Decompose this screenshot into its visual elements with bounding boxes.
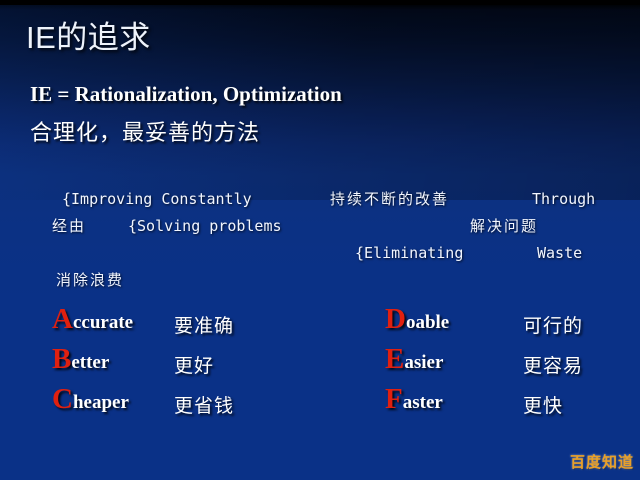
baidu-zhidao-watermark: 百度知道 bbox=[570, 451, 634, 472]
abc-initial-letter: D bbox=[385, 303, 406, 335]
body-line: {EliminatingWaste bbox=[0, 240, 640, 267]
abc-term-rest: etter bbox=[71, 352, 109, 373]
abc-term-rest: aster bbox=[403, 392, 443, 413]
body-text-segment: Waste bbox=[537, 240, 582, 267]
subtitle-english: IE = Rationalization, Optimization bbox=[30, 82, 342, 107]
body-line: 消除浪费 bbox=[0, 267, 640, 294]
body-text-segment: 经由 bbox=[52, 213, 86, 240]
abc-initial-letter: B bbox=[52, 343, 71, 375]
abc-initial-letter: A bbox=[52, 303, 73, 335]
abc-term-rest: ccurate bbox=[73, 312, 133, 333]
abc-term: Better bbox=[52, 350, 109, 374]
abc-term-rest: oable bbox=[406, 312, 449, 333]
abc-term-translation: 要准确 bbox=[174, 311, 234, 338]
abc-term-translation: 更好 bbox=[174, 351, 214, 378]
body-text-segment: {Solving problems bbox=[128, 213, 282, 240]
abc-term: Faster bbox=[385, 390, 443, 414]
abc-term-translation: 更容易 bbox=[523, 351, 583, 378]
top-black-bar bbox=[0, 0, 640, 5]
abc-term: Accurate bbox=[52, 310, 133, 334]
body-text-segment: 消除浪费 bbox=[56, 267, 124, 294]
body-text-segment: 解决问题 bbox=[470, 213, 538, 240]
abc-term-rest: asier bbox=[404, 352, 443, 373]
abc-term-rest: heaper bbox=[73, 392, 129, 413]
body-text-segment: {Improving Constantly bbox=[62, 186, 252, 213]
abc-initial-letter: F bbox=[385, 383, 403, 415]
abc-term: Easier bbox=[385, 350, 443, 374]
abc-term: Doable bbox=[385, 310, 449, 334]
body-text-segment: {Eliminating bbox=[355, 240, 463, 267]
presentation-slide: IE的追求 IE = Rationalization, Optimization… bbox=[0, 0, 640, 480]
abc-initial-letter: C bbox=[52, 383, 73, 415]
body-text-segment: Through bbox=[532, 186, 595, 213]
abc-term-translation: 更省钱 bbox=[174, 391, 234, 418]
subtitle-chinese: 合理化，最妥善的方法 bbox=[30, 115, 260, 147]
abc-term-translation: 可行的 bbox=[523, 311, 583, 338]
body-text-block: {Improving Constantly持续不断的改善Through经由{So… bbox=[0, 186, 640, 294]
body-text-segment: 持续不断的改善 bbox=[330, 186, 449, 213]
abc-term-translation: 更快 bbox=[523, 391, 563, 418]
abc-term: Cheaper bbox=[52, 390, 129, 414]
slide-title: IE的追求 bbox=[26, 12, 151, 57]
body-line: {Improving Constantly持续不断的改善Through bbox=[0, 186, 640, 213]
body-line: 经由{Solving problems解决问题 bbox=[0, 213, 640, 240]
abc-initial-letter: E bbox=[385, 343, 404, 375]
